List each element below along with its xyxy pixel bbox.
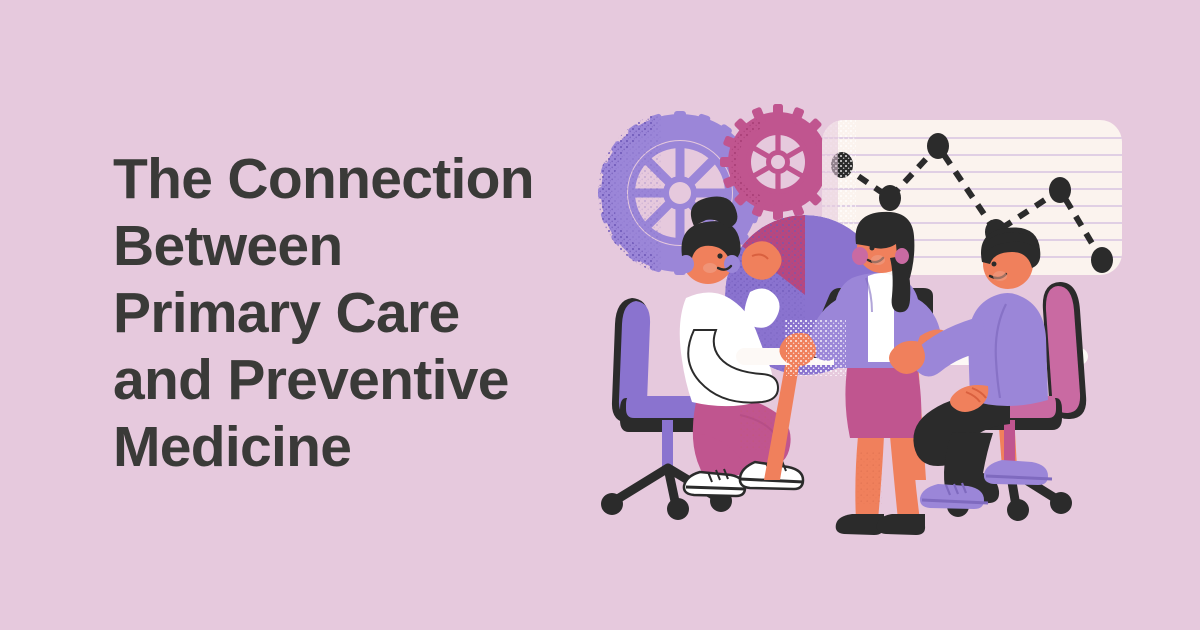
headline-line-5: Medicine [113, 414, 633, 481]
gear-small-magenta-icon [720, 104, 836, 220]
headline-line-4: and Preventive [113, 347, 633, 414]
headline-line-1: The Connection [113, 146, 633, 213]
dissolve-particles [786, 320, 846, 376]
headline-line-3: Primary Care [113, 280, 633, 347]
earring-left [678, 255, 694, 273]
banner-root: The Connection Between Primary Care and … [0, 0, 1200, 630]
headline-line-2: Between [113, 213, 633, 280]
page-title: The Connection Between Primary Care and … [113, 146, 633, 481]
team-analyzing-data-illustration [590, 80, 1200, 550]
